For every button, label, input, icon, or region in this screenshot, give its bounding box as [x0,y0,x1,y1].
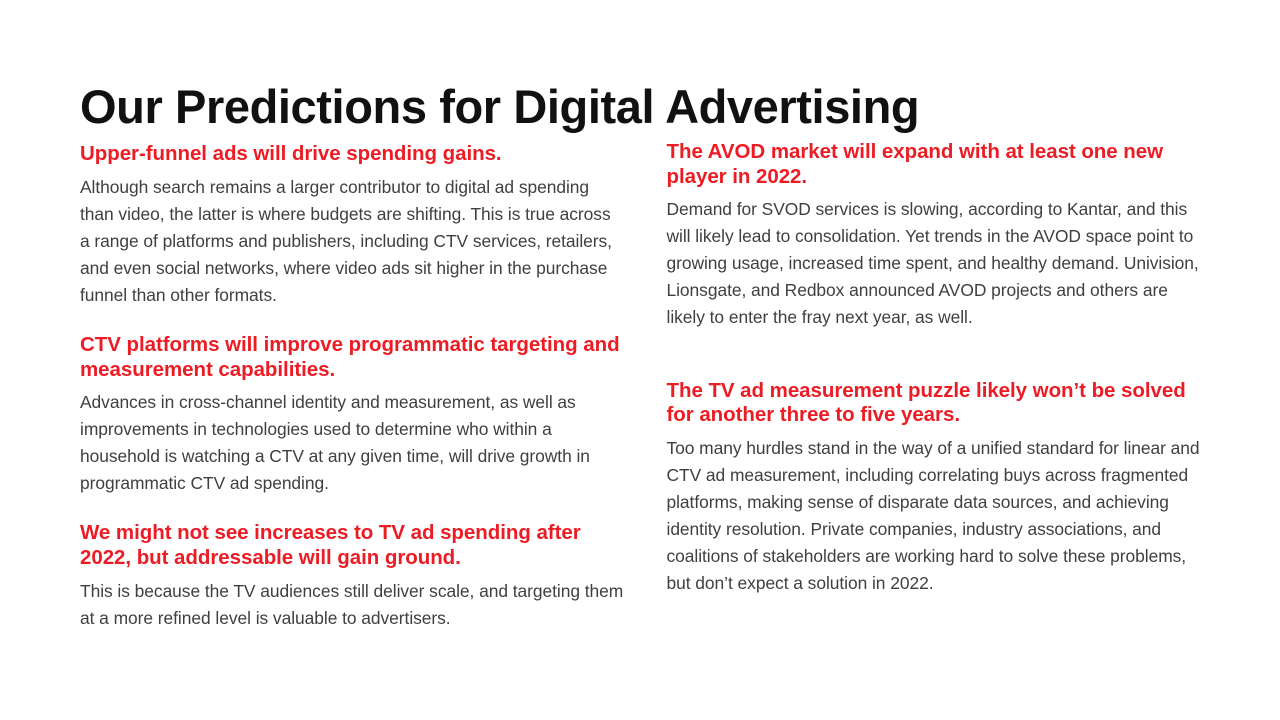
prediction-heading: Upper-funnel ads will drive spending gai… [80,142,624,167]
prediction-body: Although search remains a larger contrib… [80,174,624,309]
prediction-block-tv-ad-spending: We might not see increases to TV ad spen… [80,521,624,631]
prediction-block-ctv-platforms: CTV platforms will improve programmatic … [80,333,624,497]
prediction-body: This is because the TV audiences still d… [80,578,624,632]
prediction-body: Advances in cross-channel identity and m… [80,389,624,497]
prediction-heading: The TV ad measurement puzzle likely won’… [667,379,1211,428]
prediction-heading: The AVOD market will expand with at leas… [667,140,1211,189]
predictions-column-left: Upper-funnel ads will drive spending gai… [80,138,624,632]
slide-canvas: Our Predictions for Digital Advertising … [0,0,1280,720]
page-title: Our Predictions for Digital Advertising [80,81,1200,134]
prediction-body: Too many hurdles stand in the way of a u… [667,435,1211,597]
prediction-block-avod-market: The AVOD market will expand with at leas… [667,140,1211,332]
predictions-column-right: The AVOD market will expand with at leas… [667,138,1211,597]
predictions-columns: Upper-funnel ads will drive spending gai… [80,138,1210,632]
prediction-heading: We might not see increases to TV ad spen… [80,521,624,570]
prediction-heading: CTV platforms will improve programmatic … [80,333,624,382]
prediction-body: Demand for SVOD services is slowing, acc… [667,196,1211,331]
prediction-block-tv-ad-measurement: The TV ad measurement puzzle likely won’… [667,379,1211,598]
prediction-block-upper-funnel-ads: Upper-funnel ads will drive spending gai… [80,142,624,309]
